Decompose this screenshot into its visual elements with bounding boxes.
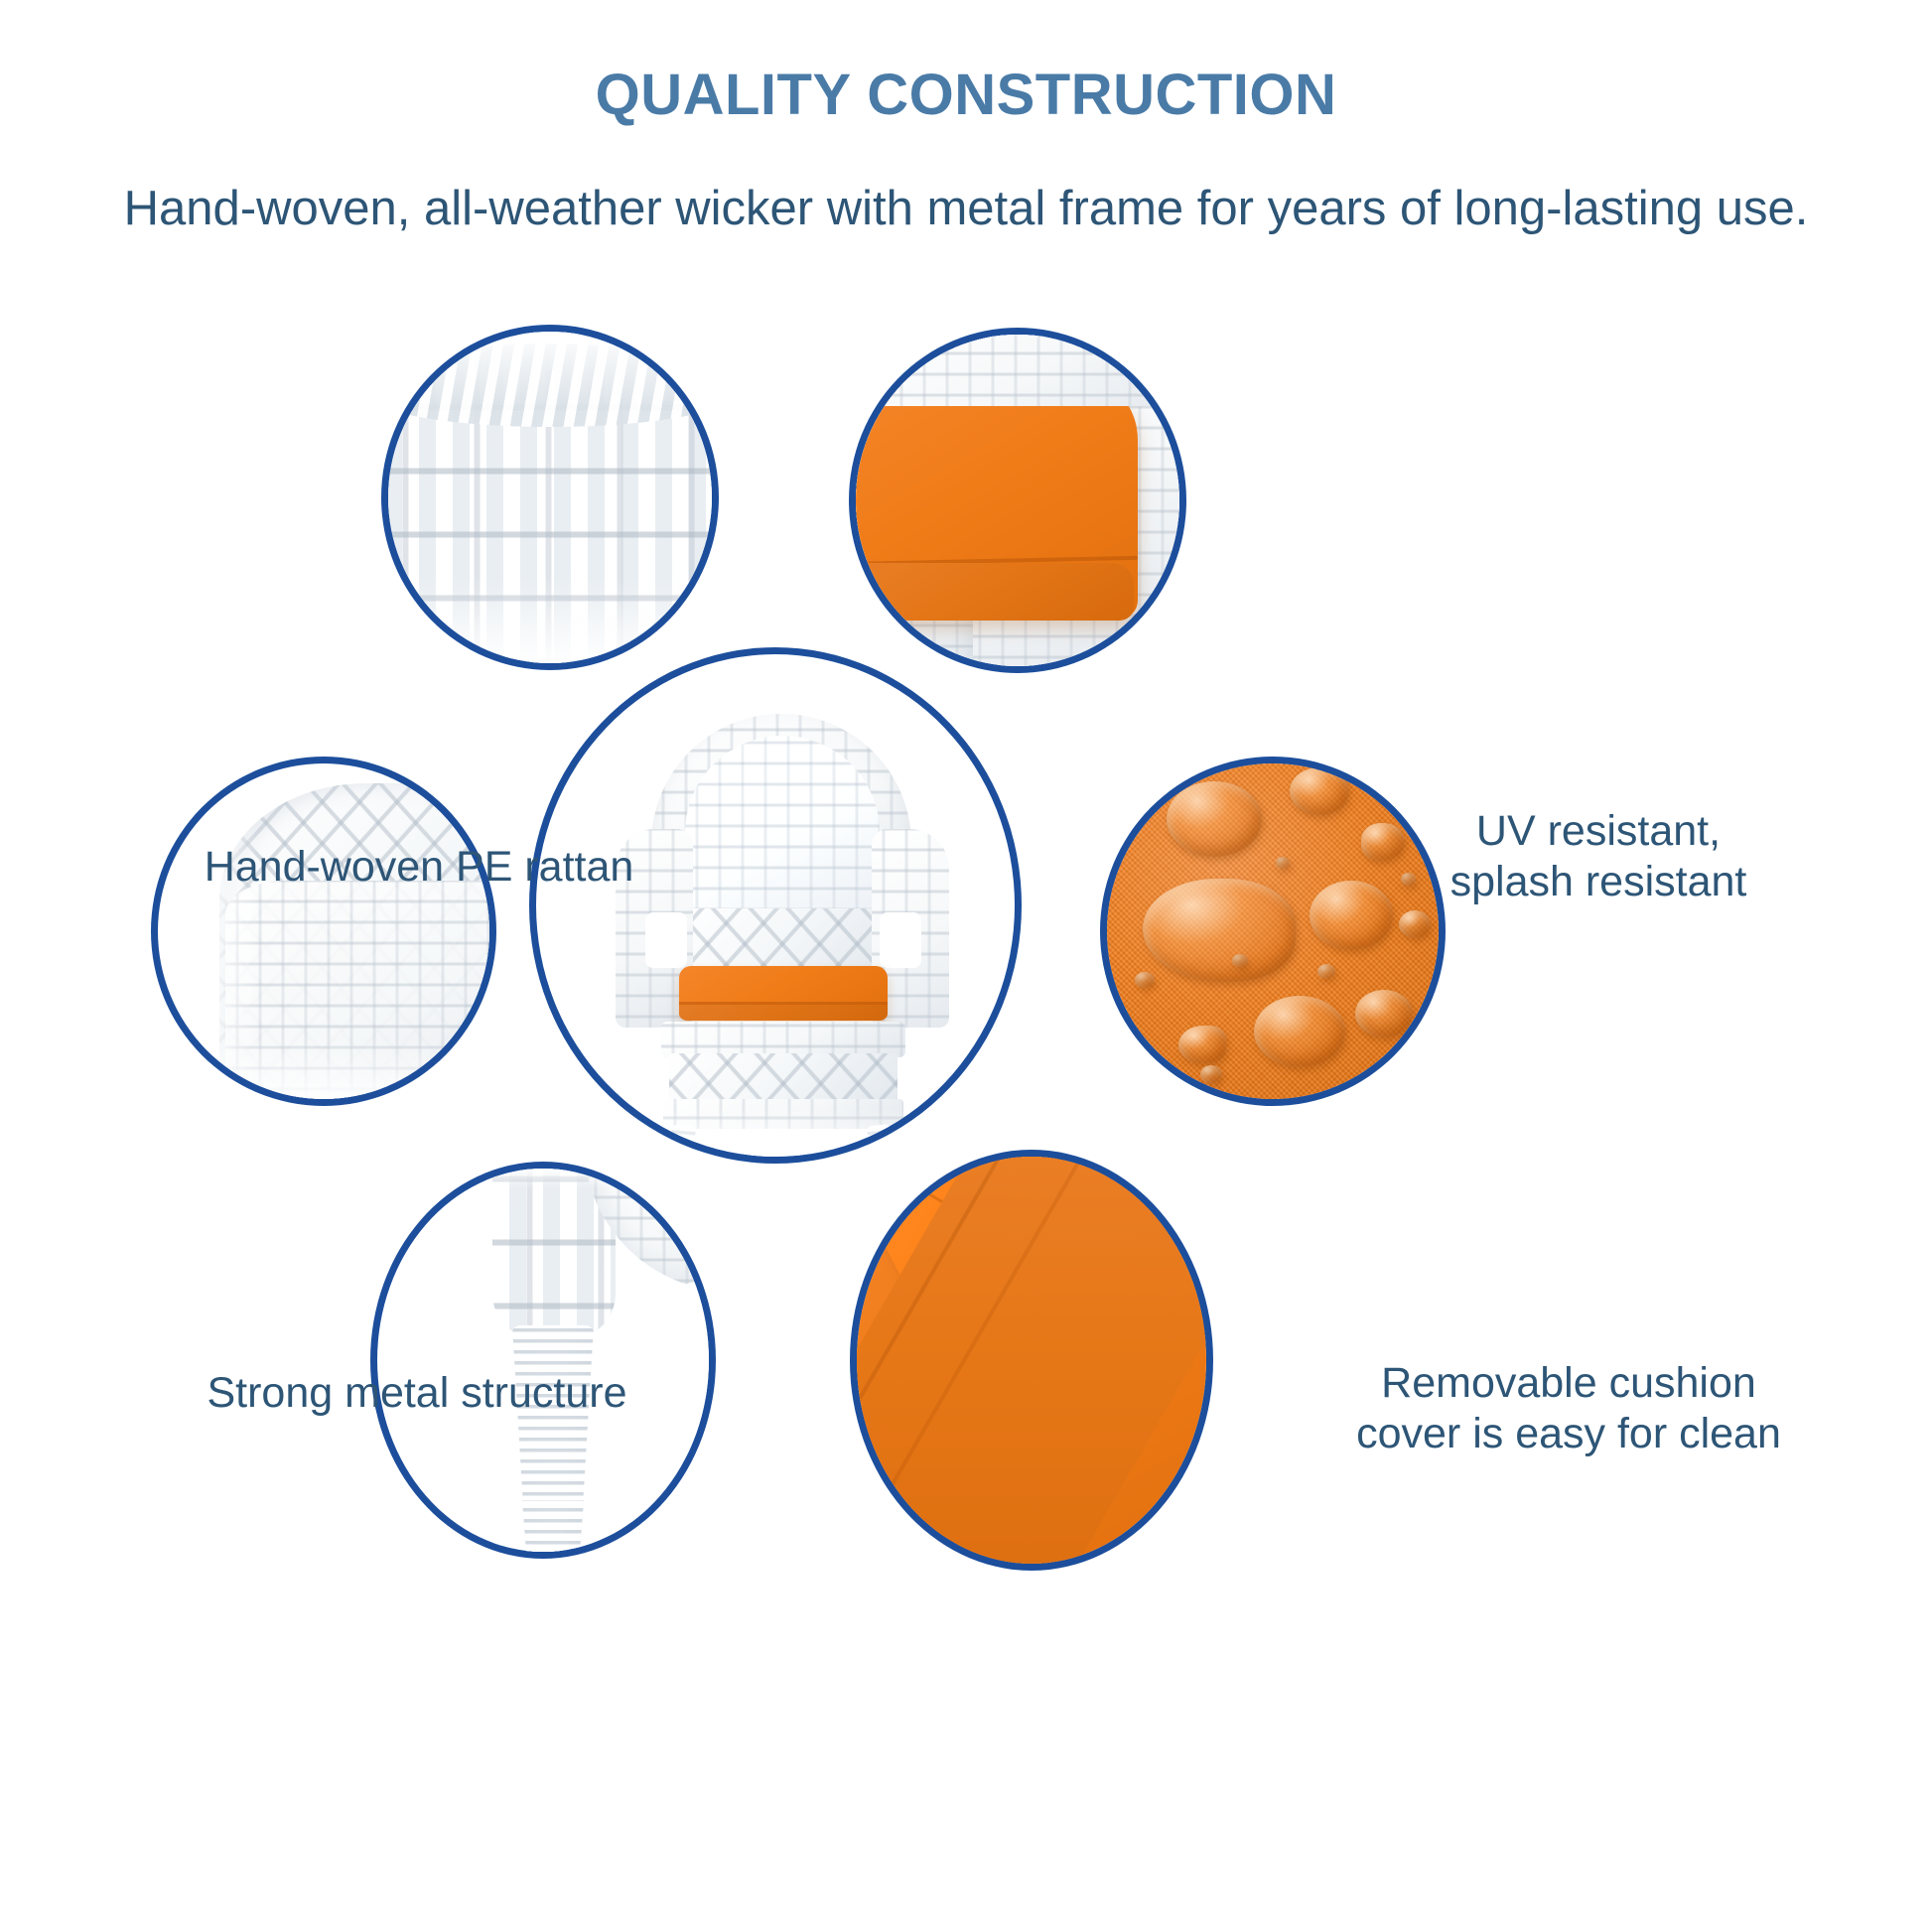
infographic-canvas: QUALITY CONSTRUCTION Hand-woven, all-wea…	[0, 0, 1932, 1932]
seat-cushion-image	[854, 333, 1181, 668]
bubble-chair-leg	[370, 1162, 716, 1559]
zipper-image	[855, 1155, 1208, 1566]
water-droplet	[1317, 964, 1335, 979]
full-chair-image	[534, 652, 1017, 1159]
water-droplet	[1232, 954, 1248, 967]
bubble-seat-cushion	[849, 328, 1186, 673]
metal-frame-image	[156, 761, 491, 1101]
water-droplet	[1355, 990, 1413, 1037]
caption-hand-woven-pe-rattan: Hand-woven PE rattan	[111, 842, 727, 893]
chair-leg-image	[375, 1167, 711, 1554]
bubble-zipper	[850, 1150, 1213, 1571]
chair-lower-lattice	[669, 1053, 897, 1103]
bubble-full-chair	[529, 647, 1022, 1164]
caption-strong-metal-structure: Strong metal structure	[109, 1368, 725, 1419]
water-droplet	[1254, 996, 1345, 1067]
water-droplet	[1399, 910, 1431, 938]
water-droplet	[1276, 857, 1290, 869]
page-title: QUALITY CONSTRUCTION	[0, 62, 1932, 128]
bubble-metal-frame	[151, 757, 496, 1106]
water-droplet	[1178, 1026, 1226, 1063]
water-droplet	[1143, 879, 1296, 982]
caption-uv-splash-resistant: UV resistant, splash resistant	[1320, 806, 1876, 906]
rattan-weave-image	[386, 330, 714, 665]
caption-removable-cushion-cover: Removable cushion cover is easy for clea…	[1261, 1358, 1876, 1458]
water-droplet	[1200, 1065, 1222, 1083]
water-droplet	[1167, 781, 1262, 857]
leg-shaft	[512, 1325, 594, 1514]
page-subtitle: Hand-woven, all-weather wicker with meta…	[0, 181, 1932, 236]
water-droplet	[1135, 972, 1155, 988]
bubble-rattan-weave	[381, 325, 719, 670]
